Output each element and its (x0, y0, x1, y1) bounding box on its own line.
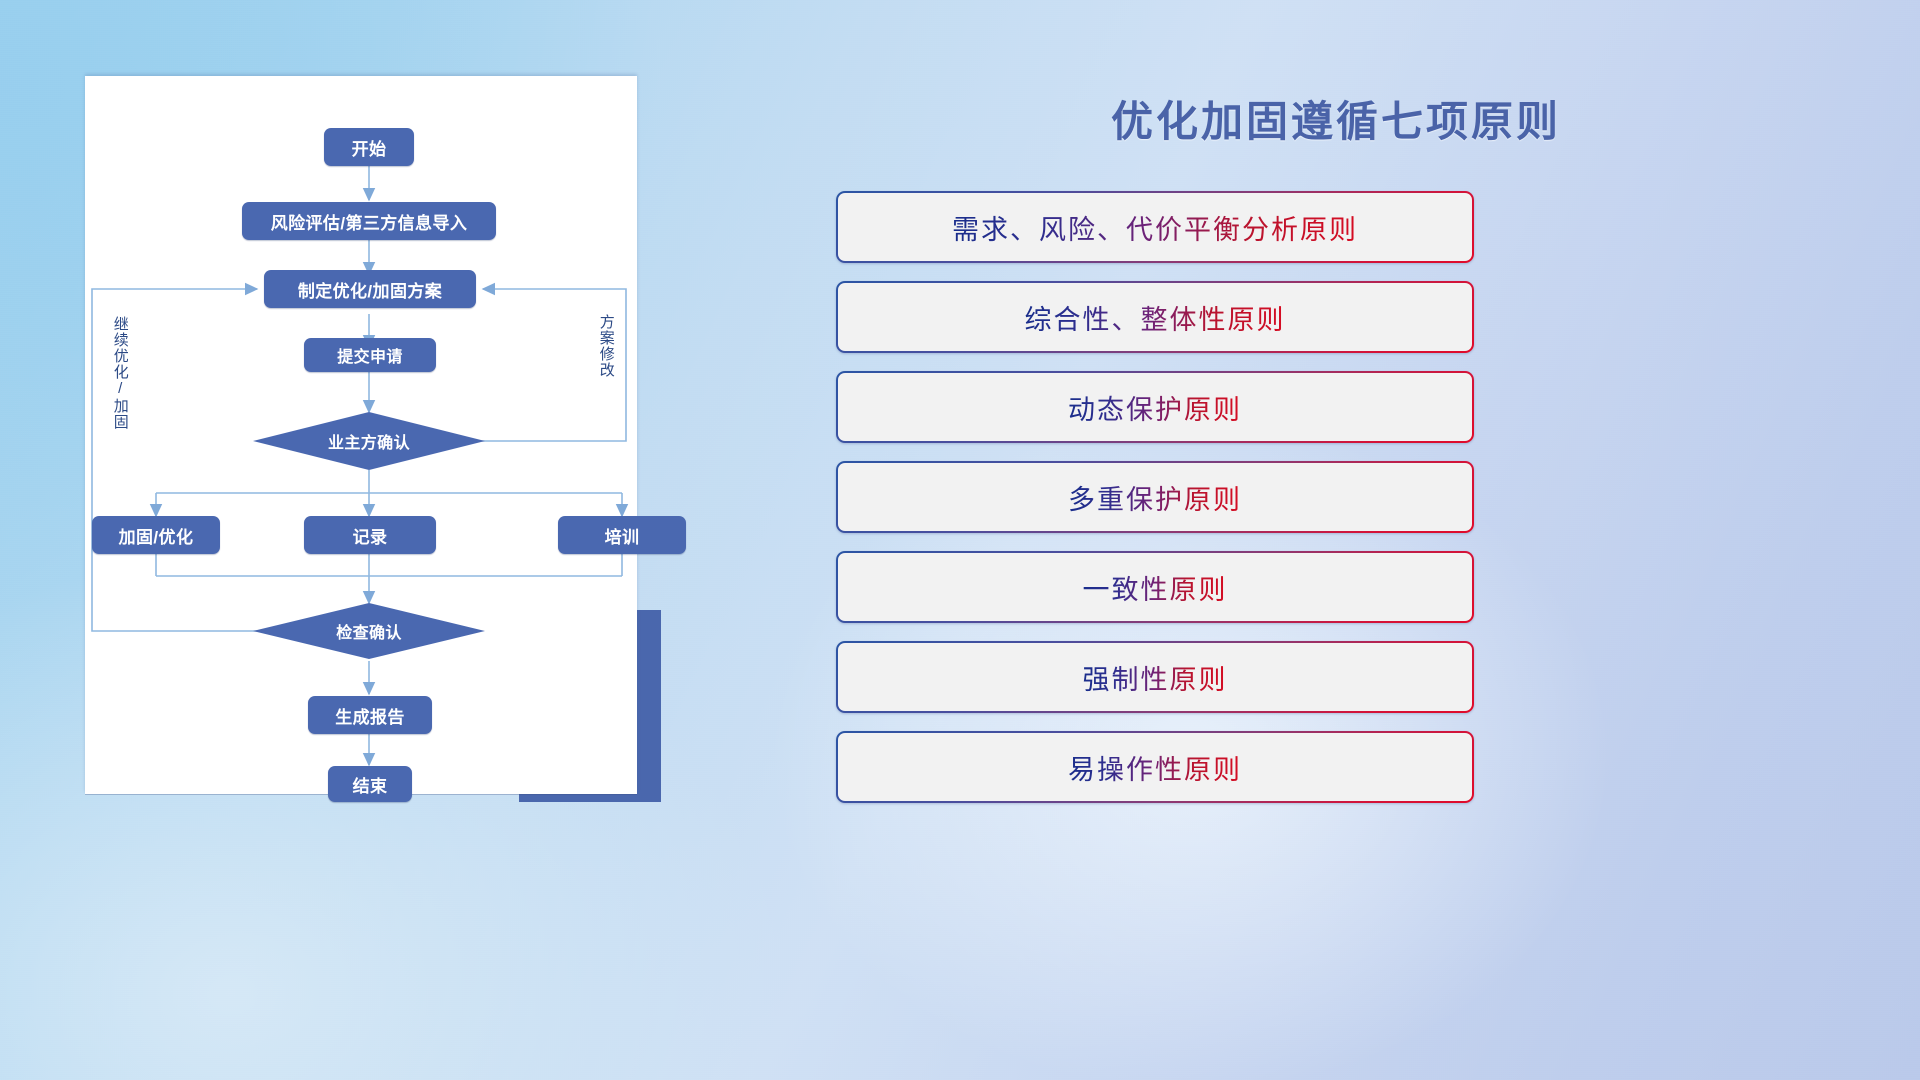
principle-card-1-label: 需求、风险、代价平衡分析原则 (952, 208, 1358, 247)
edge-label-left-loop: 继续优化/加固 (112, 316, 128, 430)
page-title: 优化加固遵循七项原则 (836, 88, 1836, 149)
principle-card-5-inner: 一致性原则 (838, 553, 1472, 621)
principle-card-6-label: 强制性原则 (1083, 658, 1228, 697)
edge-label-right-loop-text: 方案修改 (598, 314, 615, 378)
principle-card-1-inner: 需求、风险、代价平衡分析原则 (838, 193, 1472, 261)
node-generate-report-label: 生成报告 (335, 703, 405, 728)
node-submit-application[interactable]: 提交申请 (304, 338, 436, 372)
node-make-plan[interactable]: 制定优化/加固方案 (264, 270, 476, 308)
node-record-label: 记录 (353, 523, 388, 548)
node-generate-report[interactable]: 生成报告 (308, 696, 432, 734)
edge-label-right-loop: 方案修改 (598, 314, 614, 378)
principle-card-5[interactable]: 一致性原则 (836, 551, 1474, 623)
principle-card-2[interactable]: 综合性、整体性原则 (836, 281, 1474, 353)
flowchart-card: 开始 风险评估/第三方信息导入 制定优化/加固方案 提交申请 业主方确认 加固/… (85, 76, 637, 794)
edge-label-left-loop-text: 继续优化/加固 (112, 316, 129, 430)
principle-card-4-label: 多重保护原则 (1068, 478, 1242, 517)
principle-card-3-label: 动态保护原则 (1068, 388, 1242, 427)
node-inspection-confirm[interactable]: 检查确认 (253, 603, 485, 659)
node-inspection-confirm-label: 检查确认 (336, 619, 402, 643)
node-reinforce-optimize[interactable]: 加固/优化 (92, 516, 220, 554)
principle-card-7[interactable]: 易操作性原则 (836, 731, 1474, 803)
node-risk-assessment-label: 风险评估/第三方信息导入 (271, 209, 468, 234)
node-start[interactable]: 开始 (324, 128, 414, 166)
principle-card-3-inner: 动态保护原则 (838, 373, 1472, 441)
principle-card-4-inner: 多重保护原则 (838, 463, 1472, 531)
principles-panel: 优化加固遵循七项原则 需求、风险、代价平衡分析原则 综合性、整体性原则 动态保护… (836, 0, 1920, 1080)
principle-card-1[interactable]: 需求、风险、代价平衡分析原则 (836, 191, 1474, 263)
node-end-label: 结束 (353, 772, 388, 797)
principle-card-7-inner: 易操作性原则 (838, 733, 1472, 801)
flowchart-diagram: 开始 风险评估/第三方信息导入 制定优化/加固方案 提交申请 业主方确认 加固/… (85, 76, 637, 794)
node-start-label: 开始 (352, 135, 387, 160)
node-reinforce-optimize-label: 加固/优化 (119, 523, 194, 548)
principles-list: 需求、风险、代价平衡分析原则 综合性、整体性原则 动态保护原则 多重保护原则 一… (836, 191, 1476, 821)
principle-card-5-label: 一致性原则 (1083, 568, 1228, 607)
principle-card-4[interactable]: 多重保护原则 (836, 461, 1474, 533)
node-training-label: 培训 (605, 523, 640, 548)
node-owner-confirm-label: 业主方确认 (328, 429, 410, 453)
node-submit-application-label: 提交申请 (337, 343, 403, 367)
node-end[interactable]: 结束 (328, 766, 412, 802)
node-risk-assessment[interactable]: 风险评估/第三方信息导入 (242, 202, 496, 240)
principle-card-2-label: 综合性、整体性原则 (1025, 298, 1286, 337)
node-training[interactable]: 培训 (558, 516, 686, 554)
principle-card-6-inner: 强制性原则 (838, 643, 1472, 711)
node-owner-confirm[interactable]: 业主方确认 (253, 412, 485, 470)
principle-card-3[interactable]: 动态保护原则 (836, 371, 1474, 443)
principle-card-2-inner: 综合性、整体性原则 (838, 283, 1472, 351)
principle-card-7-label: 易操作性原则 (1068, 748, 1242, 787)
node-record[interactable]: 记录 (304, 516, 436, 554)
principle-card-6[interactable]: 强制性原则 (836, 641, 1474, 713)
node-make-plan-label: 制定优化/加固方案 (298, 277, 442, 302)
